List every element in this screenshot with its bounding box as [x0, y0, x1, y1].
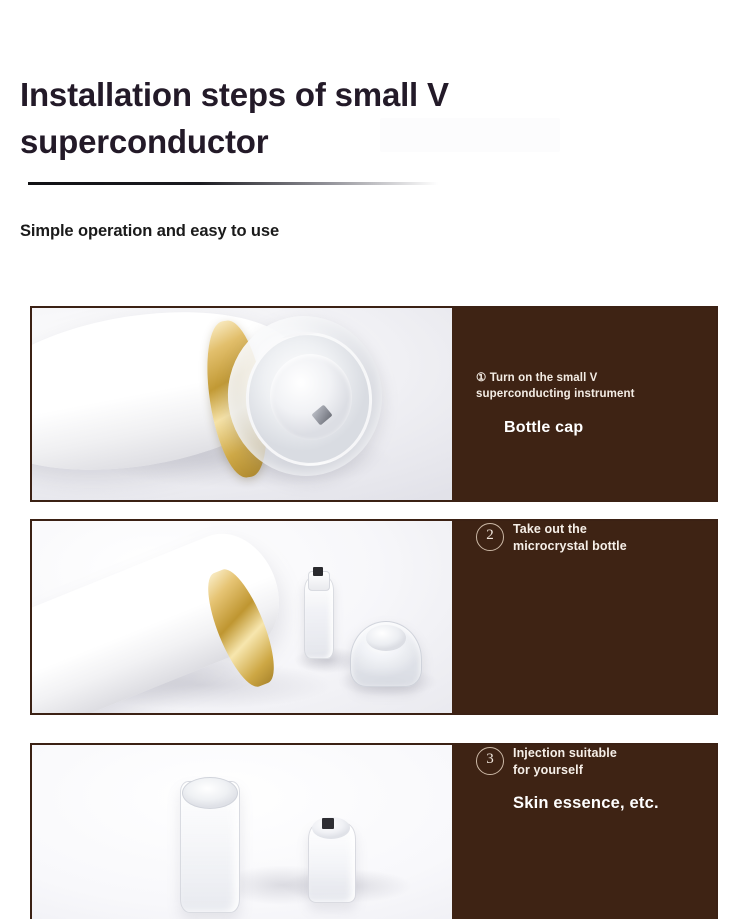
step-1-description: ① Turn on the small V superconducting in… — [476, 371, 635, 402]
step-3-description: Injection suitable for yourself — [513, 745, 659, 780]
step-1-caption: ① Turn on the small V superconducting in… — [452, 308, 716, 500]
step-card-3: 3 Injection suitable for yourself Skin e… — [30, 743, 718, 919]
clear-cap-top-icon — [366, 625, 406, 651]
bottle-rim-icon — [182, 777, 238, 809]
step-2-number-badge: 2 — [476, 523, 504, 551]
step-3-number-badge: 3 — [476, 747, 504, 775]
step-3-caption: 3 Injection suitable for yourself Skin e… — [452, 745, 716, 919]
step-card-2: 2 Take out the microcrystal bottle — [30, 519, 718, 715]
photo-background-3 — [32, 745, 452, 919]
page-subtitle: Simple operation and easy to use — [20, 222, 279, 241]
bottle-chip-icon — [322, 818, 334, 829]
page-title: Installation steps of small V supercondu… — [20, 72, 580, 166]
bottle-chip-icon — [313, 567, 323, 576]
step-2-caption: 2 Take out the microcrystal bottle — [452, 521, 716, 713]
step-2-photo — [32, 521, 452, 713]
step-1-caption-column: ① Turn on the small V superconducting in… — [476, 371, 635, 436]
product-instruction-page: Installation steps of small V supercondu… — [0, 0, 750, 919]
step-3-photo — [32, 745, 452, 919]
photo-background-1 — [32, 308, 452, 500]
step-3-emphasis: Skin essence, etc. — [513, 794, 659, 813]
step-1-photo — [32, 308, 452, 500]
photo-background-2 — [32, 521, 452, 713]
step-3-caption-column: Injection suitable for yourself Skin ess… — [513, 745, 659, 813]
step-card-1: ① Turn on the small V superconducting in… — [30, 306, 718, 502]
step-2-description: Take out the microcrystal bottle — [513, 521, 627, 556]
step-2-caption-column: Take out the microcrystal bottle — [513, 521, 627, 556]
title-divider — [28, 182, 438, 185]
step-1-emphasis: Bottle cap — [504, 419, 635, 437]
